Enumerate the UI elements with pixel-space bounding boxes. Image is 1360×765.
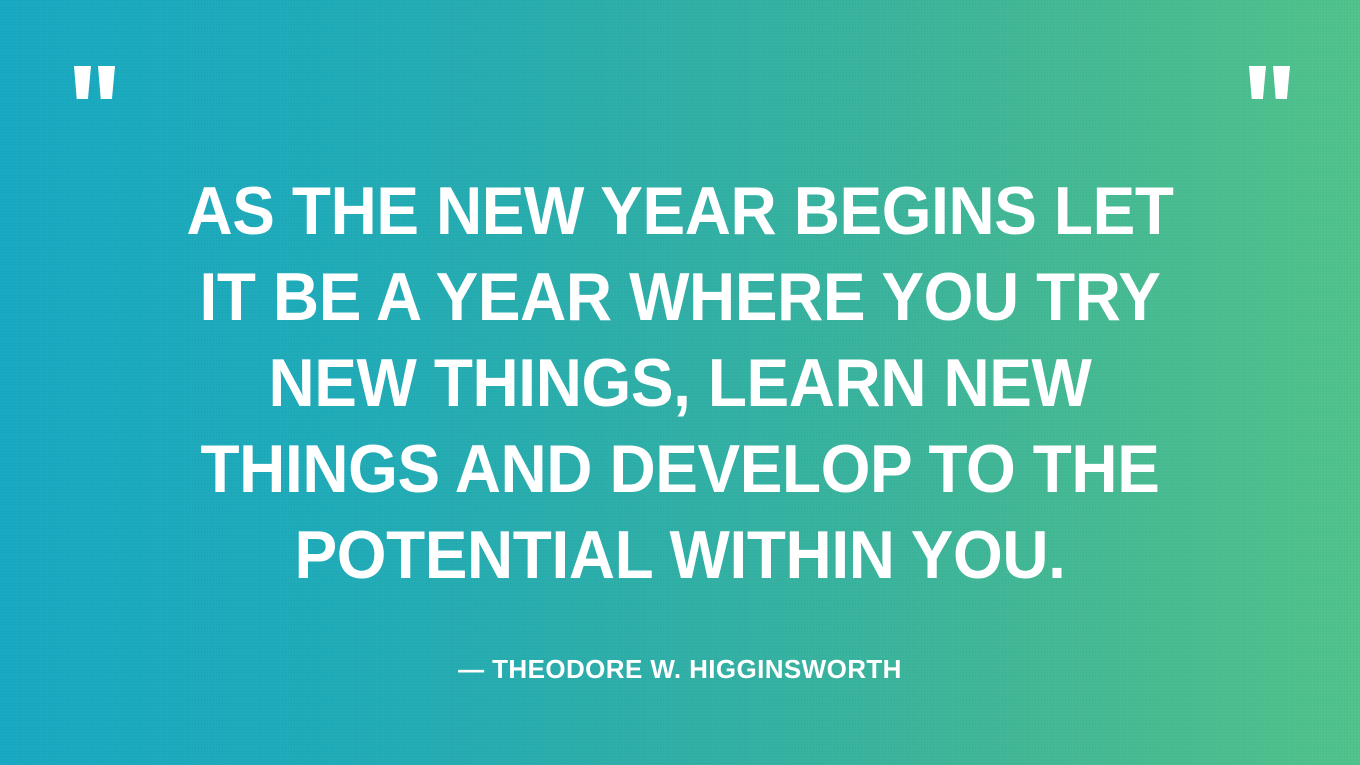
- quote-line: AS THE NEW YEAR BEGINS LET: [107, 168, 1254, 254]
- quote-line: NEW THINGS, LEARN NEW: [107, 340, 1254, 426]
- quote-mark-bar: [98, 66, 115, 99]
- quote-line: THINGS AND DEVELOP TO THE: [107, 426, 1254, 512]
- quote-mark-close-icon: [1249, 66, 1290, 99]
- quote-line: POTENTIAL WITHIN YOU.: [107, 512, 1254, 598]
- quote-mark-bar: [1249, 66, 1266, 99]
- quote-mark-open-icon: [74, 66, 115, 99]
- quote-text: AS THE NEW YEAR BEGINS LET IT BE A YEAR …: [0, 168, 1360, 598]
- quote-attribution: — THEODORE W. HIGGINSWORTH: [0, 653, 1360, 685]
- quote-mark-bar: [74, 66, 91, 99]
- quote-line: IT BE A YEAR WHERE YOU TRY: [107, 254, 1254, 340]
- quote-mark-bar: [1273, 66, 1290, 99]
- quote-card: AS THE NEW YEAR BEGINS LET IT BE A YEAR …: [0, 0, 1360, 765]
